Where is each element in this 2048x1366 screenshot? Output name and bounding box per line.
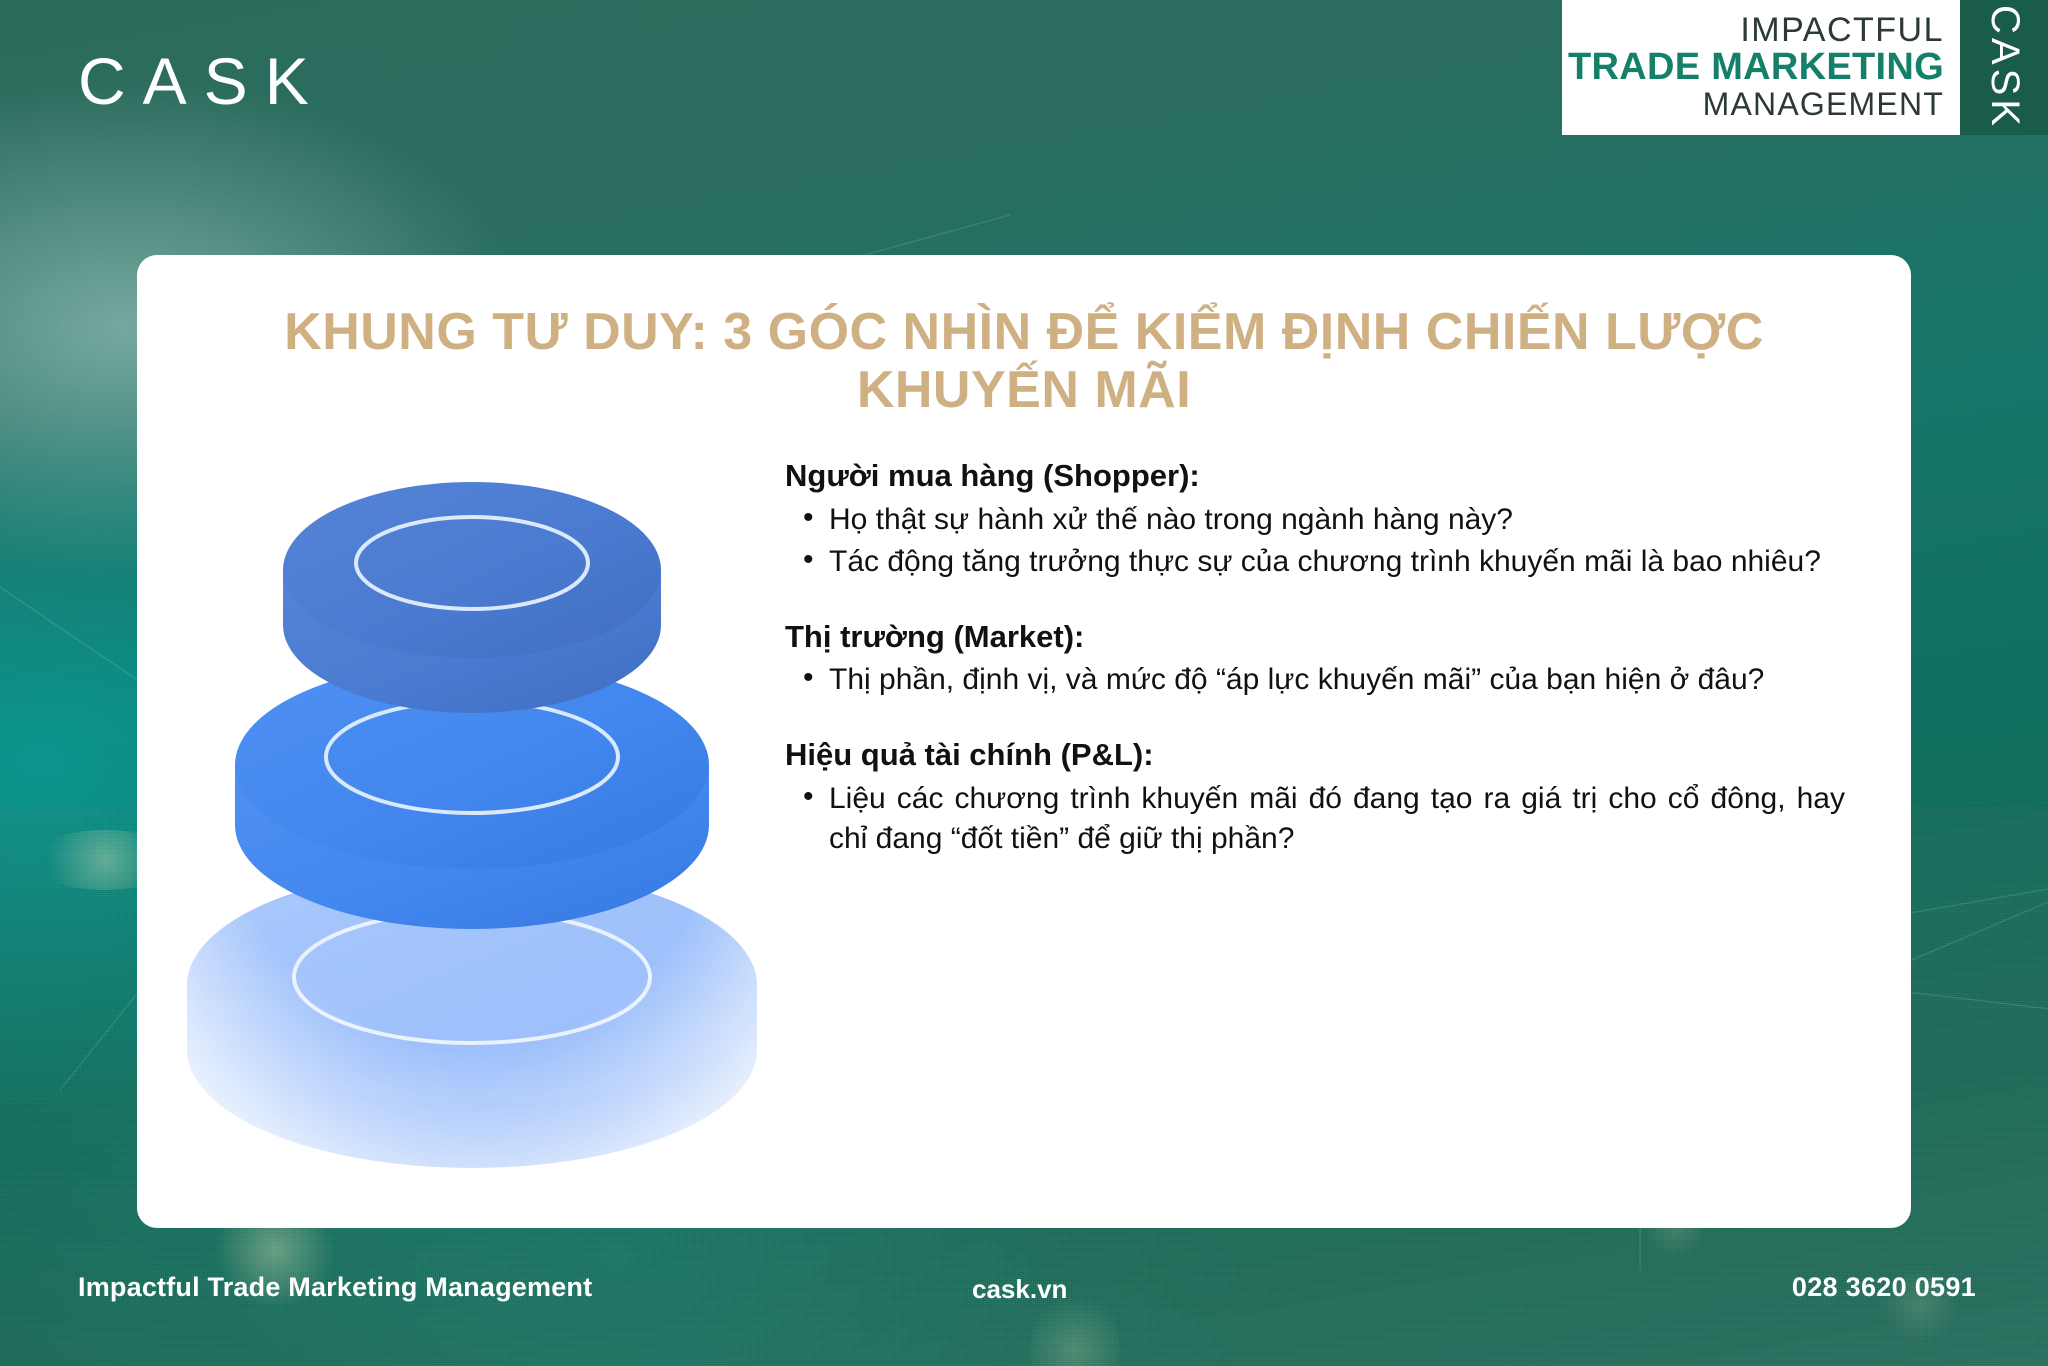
cask-logo: CASK — [78, 48, 326, 114]
slide-canvas: CASK IMPACTFUL TRADE MARKETING MANAGEMEN… — [0, 0, 2048, 1366]
block-heading: Thị trường (Market): — [785, 618, 1845, 657]
list-item: Thị phần, định vị, và mức độ “áp lực khu… — [785, 660, 1845, 700]
badge-text-block: IMPACTFUL TRADE MARKETING MANAGEMENT — [1562, 0, 1960, 135]
block-bullet-list: Liệu các chương trình khuyến mãi đó đang… — [785, 779, 1845, 859]
framework-block-pnl: Hiệu quả tài chính (P&L): Liệu các chươn… — [785, 736, 1845, 859]
footer-phone[interactable]: 028 3620 0591 — [1792, 1272, 1976, 1303]
impactful-trade-marketing-badge: IMPACTFUL TRADE MARKETING MANAGEMENT CAS… — [1562, 0, 2048, 135]
block-bullet-list: Họ thật sự hành xử thế nào trong ngành h… — [785, 500, 1845, 582]
content-card: KHUNG TƯ DUY: 3 GÓC NHÌN ĐỂ KIỂM ĐỊNH CH… — [137, 255, 1911, 1228]
badge-cask-strip: CASK — [1960, 0, 2048, 135]
footer-brand-line: Impactful Trade Marketing Management — [78, 1272, 592, 1303]
framework-block-shopper: Người mua hàng (Shopper): Họ thật sự hàn… — [785, 457, 1845, 582]
list-item: Tác động tăng trưởng thực sự của chương … — [785, 542, 1845, 582]
badge-line-impactful: IMPACTFUL — [1740, 13, 1944, 48]
stacked-discs-diagram — [167, 465, 777, 1185]
footer-website[interactable]: cask.vn — [972, 1274, 1067, 1305]
disc-layer-top — [283, 482, 661, 713]
block-heading: Người mua hàng (Shopper): — [785, 457, 1845, 496]
block-heading: Hiệu quả tài chính (P&L): — [785, 736, 1845, 775]
block-bullet-list: Thị phần, định vị, và mức độ “áp lực khu… — [785, 660, 1845, 700]
page-title: KHUNG TƯ DUY: 3 GÓC NHÌN ĐỂ KIỂM ĐỊNH CH… — [137, 303, 1911, 419]
slide-footer: Impactful Trade Marketing Management cas… — [0, 1228, 2048, 1366]
badge-strip-label: CASK — [1982, 5, 2027, 130]
badge-line-trade-marketing: TRADE MARKETING — [1568, 48, 1944, 88]
badge-line-management: MANAGEMENT — [1703, 88, 1944, 122]
list-item: Liệu các chương trình khuyến mãi đó đang… — [785, 779, 1845, 859]
framework-block-market: Thị trường (Market): Thị phần, định vị, … — [785, 618, 1845, 701]
list-item: Họ thật sự hành xử thế nào trong ngành h… — [785, 500, 1845, 540]
framework-content: Người mua hàng (Shopper): Họ thật sự hàn… — [785, 457, 1845, 859]
